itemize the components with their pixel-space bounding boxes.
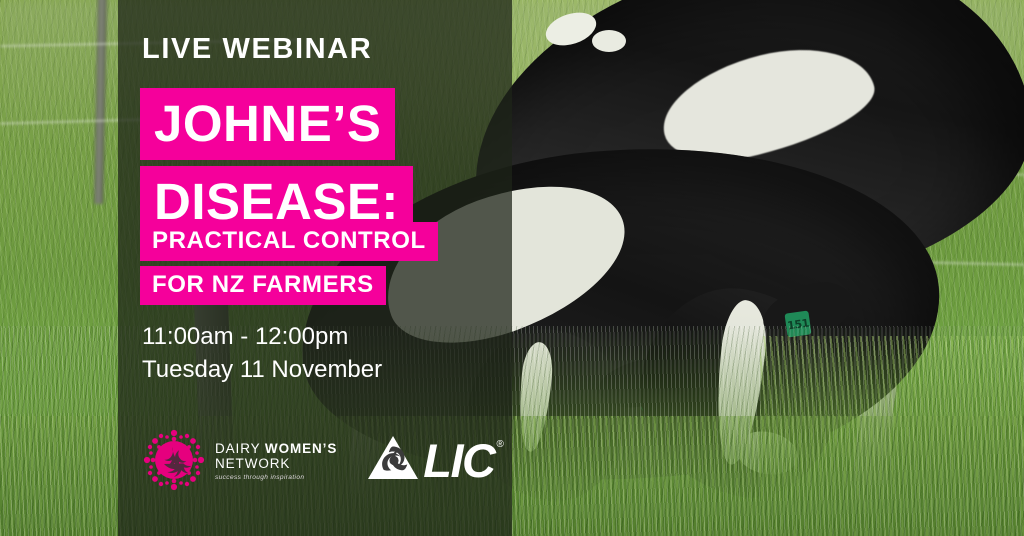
title-line-1: JOHNE’S <box>140 88 395 160</box>
webinar-promo-banner: 339 151 LIVE WEBINAR JOHNE’S DISEASE: PR… <box>0 0 1024 536</box>
sponsor-logos: DAIRY WOMEN’S NETWORK success through in… <box>142 428 504 492</box>
event-time: 11:00am - 12:00pm <box>142 320 382 353</box>
cow-white-patch <box>592 30 626 52</box>
page-subtitle: PRACTICAL CONTROL FOR NZ FARMERS <box>140 222 438 310</box>
event-schedule: 11:00am - 12:00pm Tuesday 11 November <box>142 320 382 386</box>
promo-content: LIVE WEBINAR JOHNE’S DISEASE: PRACTICAL … <box>140 0 520 536</box>
lic-logo: LIC ® <box>367 435 504 486</box>
subtitle-line-2: FOR NZ FARMERS <box>140 266 386 305</box>
dairy-womens-network-logo: DAIRY WOMEN’S NETWORK success through in… <box>142 428 337 492</box>
lic-triangle-swirl-icon <box>367 435 419 486</box>
dwn-word-dairy: DAIRY <box>215 441 265 456</box>
dwn-word-network: NETWORK <box>215 456 337 471</box>
page-title: JOHNE’S DISEASE: <box>140 88 413 244</box>
eyebrow-label: LIVE WEBINAR <box>142 33 372 66</box>
dairy-womens-network-sunburst-icon <box>142 428 206 492</box>
event-date: Tuesday 11 November <box>142 353 382 386</box>
dairy-womens-network-wordmark: DAIRY WOMEN’S NETWORK success through in… <box>215 439 337 482</box>
dwn-tagline: success through inspiration <box>215 474 337 481</box>
dwn-word-womens: WOMEN’S <box>265 441 337 456</box>
lic-wordmark: LIC <box>423 437 494 484</box>
subtitle-line-1: PRACTICAL CONTROL <box>140 222 438 261</box>
lic-registered-mark: ® <box>496 439 503 450</box>
